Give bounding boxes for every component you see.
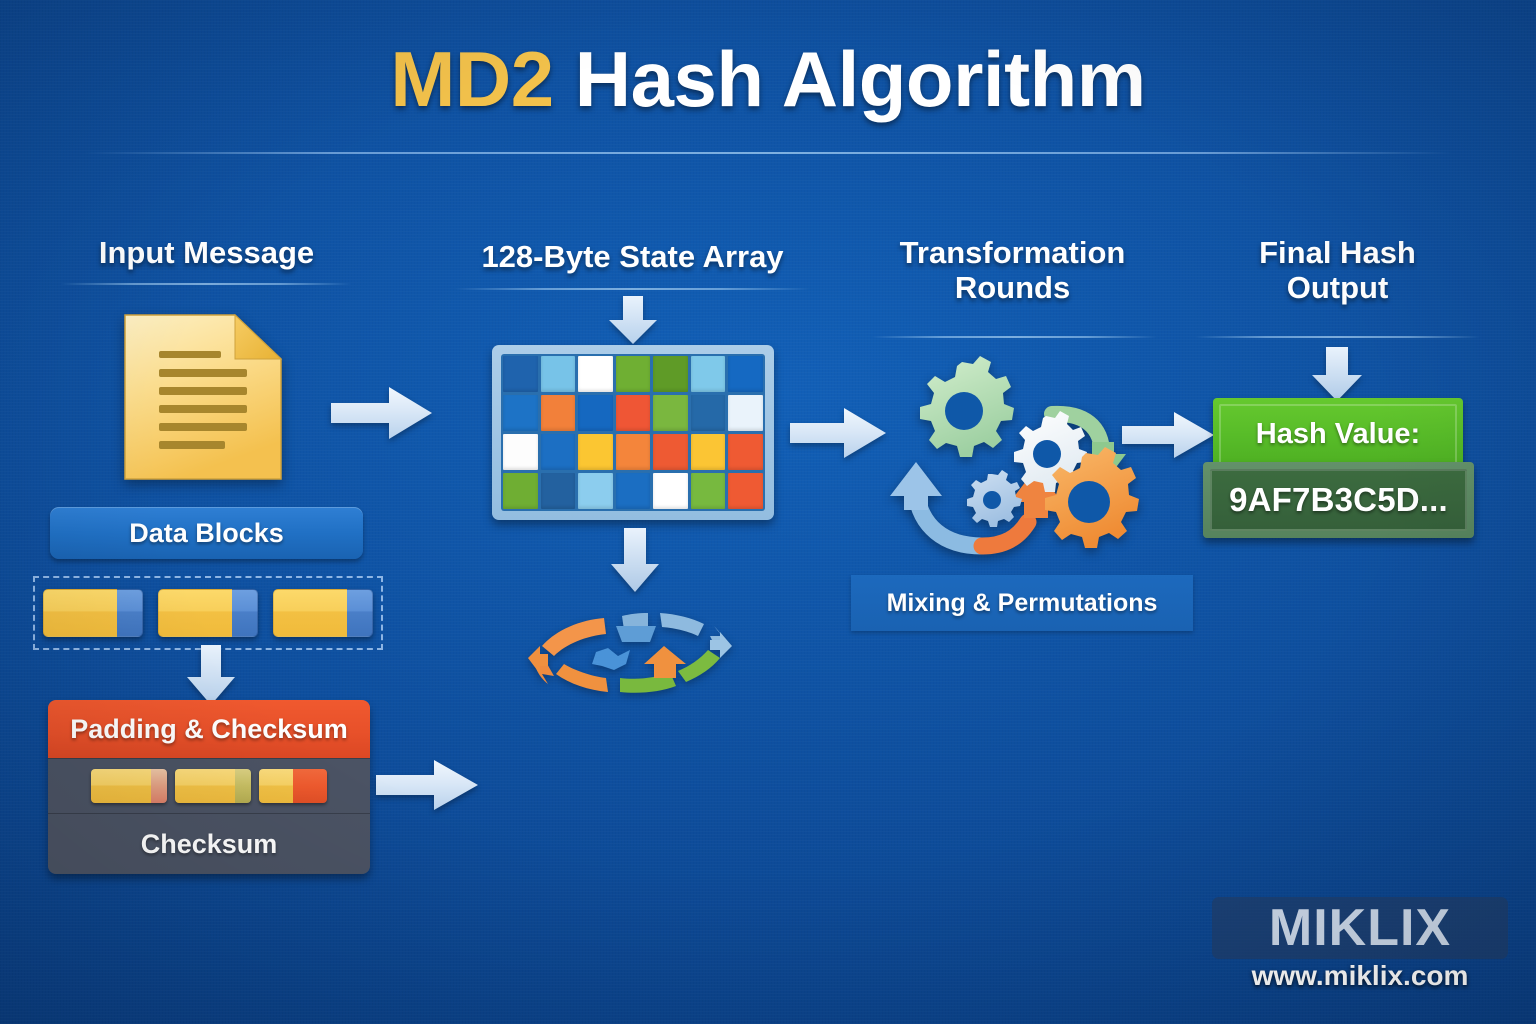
data-block xyxy=(273,589,373,637)
page-title-rest: Hash Algorithm xyxy=(554,35,1146,123)
page-title: MD2 Hash Algorithm xyxy=(0,34,1536,125)
gears-group xyxy=(886,350,1152,582)
section-title-transform: Transformation Rounds xyxy=(870,236,1155,305)
section-divider-transform xyxy=(872,336,1157,338)
padding-checksum-card: Padding & Checksum Checksum xyxy=(48,700,370,874)
state-array-cell xyxy=(541,434,576,470)
padding-checksum-header-label: Padding & Checksum xyxy=(70,714,348,745)
state-array-cell xyxy=(541,395,576,431)
arrow-doc-to-state-icon xyxy=(331,385,432,441)
section-title-transform-line2: Rounds xyxy=(870,271,1155,306)
checksum-footer: Checksum xyxy=(48,814,370,874)
watermark-brand-box: MIKLIX xyxy=(1212,897,1508,959)
data-block xyxy=(158,589,258,637)
state-array-cell xyxy=(503,473,538,509)
document-icon xyxy=(123,313,283,481)
data-blocks-label: Data Blocks xyxy=(129,518,284,549)
watermark-url: www.miklix.com xyxy=(1212,960,1508,992)
arrow-blocks-to-padding-icon xyxy=(186,645,236,705)
padding-checksum-header: Padding & Checksum xyxy=(48,700,370,758)
arrow-padding-to-right-icon xyxy=(376,758,478,812)
state-array-cell xyxy=(541,473,576,509)
state-array-cell xyxy=(616,434,651,470)
state-array-cell xyxy=(541,356,576,392)
hash-value-label: Hash Value: xyxy=(1256,418,1420,451)
state-array-cell xyxy=(578,356,613,392)
section-divider-state xyxy=(455,288,810,290)
page-title-accent: MD2 xyxy=(390,35,553,123)
arrow-state-title-down-icon xyxy=(608,296,658,344)
arrow-state-to-cycle-icon xyxy=(610,528,660,592)
state-array-grid xyxy=(501,354,765,511)
state-array-cell xyxy=(728,434,763,470)
state-array-cell xyxy=(728,356,763,392)
state-array-cell xyxy=(616,395,651,431)
state-array-cell xyxy=(653,356,688,392)
hash-digest-box: 9AF7B3C5D... xyxy=(1203,462,1474,538)
data-blocks-container xyxy=(33,576,383,650)
state-array-cell xyxy=(578,395,613,431)
state-array-cell xyxy=(653,473,688,509)
state-array-cell xyxy=(691,395,726,431)
state-array-cell xyxy=(691,434,726,470)
section-title-transform-line1: Transformation xyxy=(870,236,1155,271)
checksum-blocks-row xyxy=(48,758,370,814)
permutation-cycle-icon xyxy=(520,608,752,696)
state-array-cell xyxy=(728,473,763,509)
hash-value-box: Hash Value: xyxy=(1213,398,1463,470)
checksum-block xyxy=(259,769,327,803)
state-array-cell xyxy=(578,434,613,470)
state-array-cell xyxy=(691,356,726,392)
mixing-permutations-label: Mixing & Permutations xyxy=(887,589,1158,618)
section-title-output-line2: Output xyxy=(1210,271,1465,306)
state-array-cell xyxy=(616,356,651,392)
data-block xyxy=(43,589,143,637)
arrow-state-to-gears-icon xyxy=(790,406,886,460)
state-array-cell xyxy=(728,395,763,431)
state-array-cell xyxy=(578,473,613,509)
state-array-cell xyxy=(503,356,538,392)
title-divider xyxy=(84,152,1452,154)
data-blocks-banner: Data Blocks xyxy=(50,507,363,559)
section-title-input: Input Message xyxy=(44,236,369,271)
watermark-brand: MIKLIX xyxy=(1269,898,1451,958)
section-divider-input xyxy=(60,283,352,285)
section-divider-output xyxy=(1195,336,1480,338)
state-array-cell xyxy=(691,473,726,509)
section-title-output: Final Hash Output xyxy=(1210,236,1465,305)
mixing-permutations-band: Mixing & Permutations xyxy=(851,575,1193,631)
checksum-block xyxy=(175,769,251,803)
state-array-cell xyxy=(503,434,538,470)
arrow-output-title-down-icon xyxy=(1311,347,1363,401)
section-title-state: 128-Byte State Array xyxy=(460,240,805,275)
section-title-output-line1: Final Hash xyxy=(1210,236,1465,271)
hash-digest-value: 9AF7B3C5D... xyxy=(1229,481,1448,519)
state-array-cell xyxy=(616,473,651,509)
state-array-frame xyxy=(492,345,774,520)
checksum-block xyxy=(91,769,167,803)
state-array-cell xyxy=(653,395,688,431)
state-array-cell xyxy=(503,395,538,431)
checksum-footer-label: Checksum xyxy=(141,829,278,860)
arrow-gears-to-hash-icon xyxy=(1122,410,1214,460)
state-array-cell xyxy=(653,434,688,470)
